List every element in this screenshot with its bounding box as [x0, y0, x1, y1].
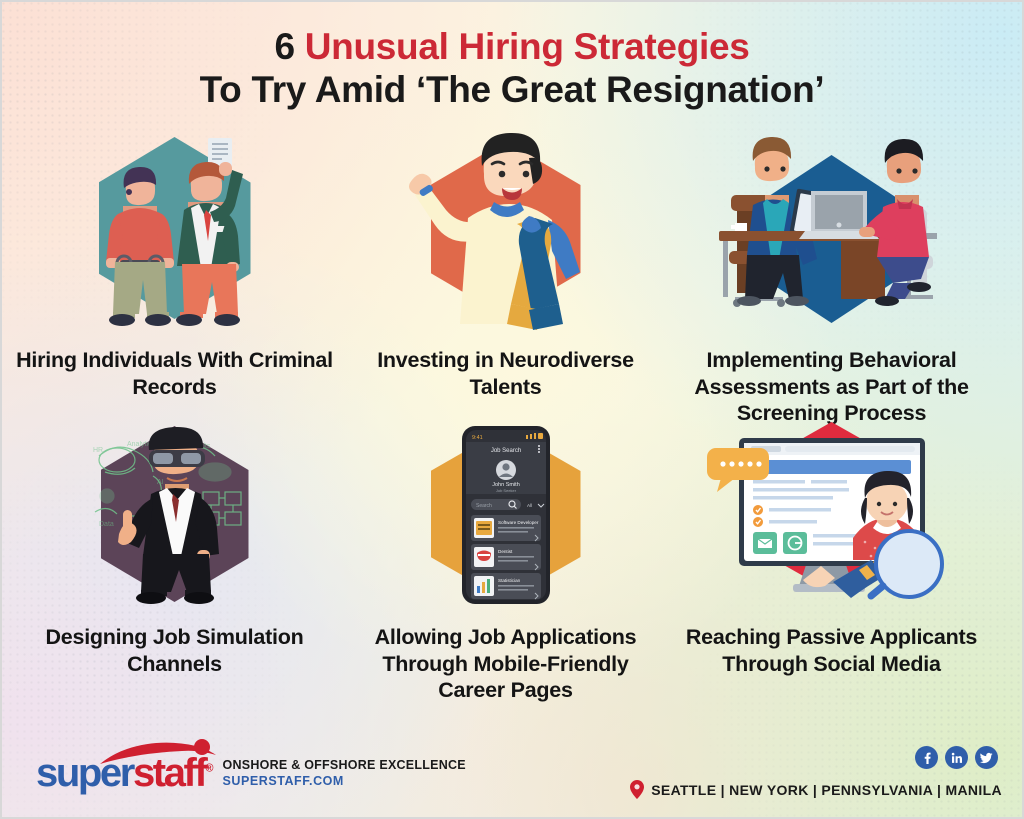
svg-text:Data: Data — [99, 521, 114, 528]
phone-profile-subtitle: Job Seeker — [495, 488, 516, 493]
illustration-criminal-records — [8, 130, 341, 335]
logo-tagline: ONSHORE & OFFSHORE EXCELLENCE SUPERSTAFF… — [223, 758, 466, 793]
illustration-behavioral-assessment — [665, 130, 998, 335]
phone-listing-item: Dentist — [471, 544, 541, 570]
man-vr-headset-icon: HRAnalyticsResults DataAI — [65, 420, 285, 610]
office-locations: SEATTLE | NEW YORK | PENNSYLVANIA | MANI… — [630, 780, 1002, 799]
title-line-one: 6 Unusual Hiring Strategies — [0, 26, 1024, 67]
phone-search-placeholder: Search — [476, 503, 492, 509]
phone-filter-label: All — [527, 503, 532, 508]
title-highlight: Unusual Hiring Strategies — [305, 26, 750, 67]
footer: superstaff® ONSHORE & OFFSHORE EXCELLENC… — [0, 727, 1024, 819]
strategy-card-5: 9:41 Job Search John Smith Job Seeker — [339, 420, 672, 704]
logo-swoosh-icon — [98, 738, 220, 768]
strategy-grid: Hiring Individuals With Criminal Records — [0, 130, 1024, 715]
tagline-line-1: ONSHORE & OFFSHORE EXCELLENCE — [223, 758, 466, 772]
phone-listing-item: Software Developer — [471, 515, 541, 541]
illustration-neurodiverse — [339, 130, 672, 335]
strategy-card-6: Reaching Passive Applicants Through Soci… — [665, 420, 998, 677]
title-number: 6 — [274, 26, 294, 67]
social-links — [915, 746, 998, 769]
strategy-caption: Implementing Behavioral Assessments as P… — [665, 347, 998, 427]
person-awareness-ribbon-icon — [398, 130, 613, 335]
monitor-social-profile-magnifier-icon — [701, 420, 963, 610]
strategy-card-4: HRAnalyticsResults DataAI — [8, 420, 341, 677]
strategy-caption: Hiring Individuals With Criminal Records — [8, 347, 341, 400]
superstaff-logo[interactable]: superstaff® ONSHORE & OFFSHORE EXCELLENC… — [36, 753, 466, 793]
two-people-handcuffs-document-icon — [60, 130, 290, 335]
logo-mark: superstaff® — [36, 753, 214, 793]
location-pin-icon — [630, 780, 644, 799]
svg-text:Software Developer: Software Developer — [498, 520, 539, 525]
phone-app-title: Job Search — [490, 448, 520, 454]
strategy-caption: Allowing Job Applications Through Mobile… — [339, 624, 672, 704]
svg-text:HR: HR — [93, 447, 103, 454]
linkedin-icon[interactable] — [945, 746, 968, 769]
smartphone-job-search-app-icon: 9:41 Job Search John Smith Job Seeker — [406, 420, 606, 610]
title-line-two: To Try Amid ‘The Great Resignation’ — [0, 67, 1024, 112]
phone-listing-item: Statistician — [471, 573, 541, 599]
twitter-icon[interactable] — [975, 746, 998, 769]
locations-text: SEATTLE | NEW YORK | PENNSYLVANIA | MANI… — [651, 782, 1002, 798]
illustration-job-simulation: HRAnalyticsResults DataAI — [8, 420, 341, 610]
strategy-caption: Designing Job Simulation Channels — [8, 624, 341, 677]
facebook-icon[interactable] — [915, 746, 938, 769]
strategy-card-3: Implementing Behavioral Assessments as P… — [665, 130, 998, 427]
tagline-line-2[interactable]: SUPERSTAFF.COM — [223, 774, 466, 788]
illustration-social-media-search — [665, 420, 998, 610]
illustration-mobile-career-page: 9:41 Job Search John Smith Job Seeker — [339, 420, 672, 610]
svg-text:9:41: 9:41 — [472, 435, 483, 441]
svg-text:AI: AI — [157, 479, 164, 486]
svg-text:Statistician: Statistician — [498, 578, 521, 583]
job-interview-desk-laptop-icon — [701, 135, 963, 335]
strategy-card-1: Hiring Individuals With Criminal Records — [8, 130, 341, 400]
strategy-caption: Reaching Passive Applicants Through Soci… — [665, 624, 998, 677]
strategy-card-2: Investing in Neurodiverse Talents — [339, 130, 672, 400]
strategy-caption: Investing in Neurodiverse Talents — [339, 347, 672, 400]
svg-text:Dentist: Dentist — [498, 549, 513, 554]
page-title: 6 Unusual Hiring Strategies To Try Amid … — [0, 26, 1024, 113]
